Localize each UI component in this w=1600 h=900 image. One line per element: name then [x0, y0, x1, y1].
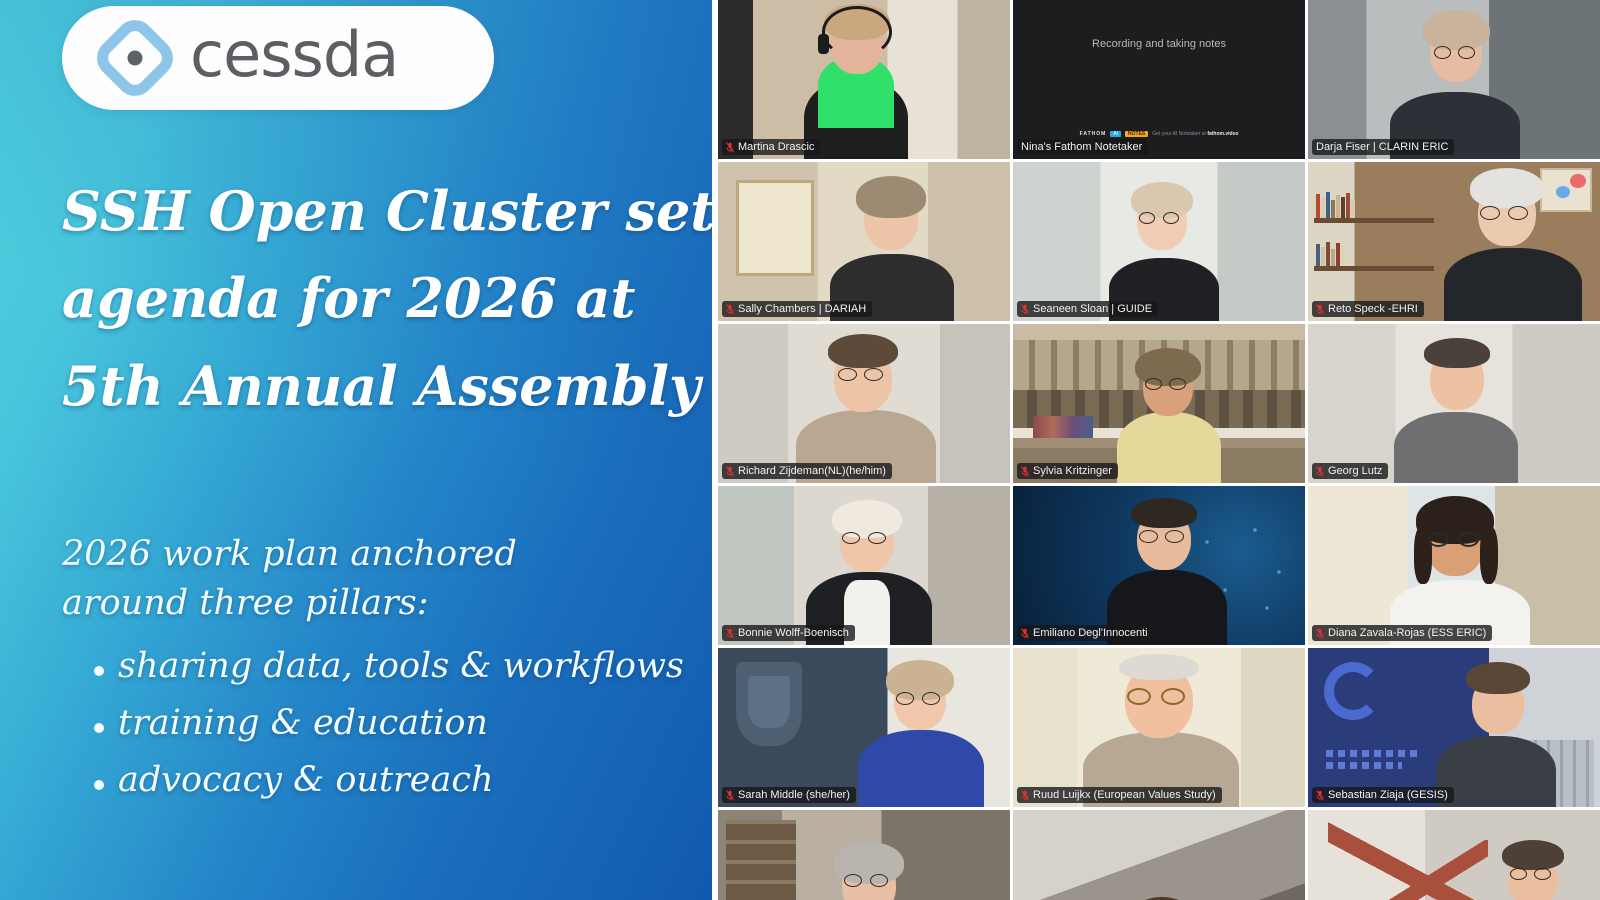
summary-lead-line: 2026 work plan anchored: [62, 530, 710, 579]
mic-muted-icon: [726, 466, 734, 477]
participant-name: Georg Lutz: [1328, 466, 1382, 477]
glasses-icon: [1480, 206, 1500, 220]
status-badge: Martina Drascic: [722, 139, 820, 155]
video-feed: [1308, 486, 1600, 645]
headline-line: 5th Annual Assembly: [62, 343, 710, 430]
participant-tile[interactable]: Sylvia Kritzinger: [1013, 324, 1305, 483]
status-badge: Sebastian Ziaja (GESIS): [1312, 787, 1454, 803]
glasses-icon: [1165, 530, 1184, 543]
glasses-icon: [1163, 212, 1179, 224]
video-feed: [718, 648, 1010, 807]
glasses-icon: [896, 692, 914, 705]
glasses-icon: [1161, 688, 1185, 705]
page-title: SSH Open Cluster sets agenda for 2026 at…: [62, 168, 710, 430]
summary-lead: 2026 work plan anchored around three pil…: [62, 530, 710, 628]
video-feed: [1308, 0, 1600, 159]
fathom-promo: FATHOM AI NOTES Get your AI Notetaker at…: [1013, 131, 1305, 137]
status-badge: Darja Fiser | CLARIN ERIC: [1312, 139, 1454, 155]
status-badge: Nina's Fathom Notetaker: [1017, 139, 1148, 155]
participant-name: Sylvia Kritzinger: [1033, 466, 1112, 477]
video-feed: [1013, 648, 1305, 807]
pillar-list: sharing data, tools & workflows training…: [62, 642, 710, 805]
promo-tail: Get your AI Notetaker at fathom.video: [1152, 131, 1238, 137]
video-feed: [718, 810, 1010, 900]
participant-tile[interactable]: Ruud Luijkx (European Values Study): [1013, 648, 1305, 807]
glasses-icon: [1434, 46, 1451, 59]
video-grid: Martina Drascic Recording and taking not…: [718, 0, 1600, 900]
glasses-icon: [922, 692, 940, 705]
participant-tile[interactable]: Diana Zavala-Rojas (ESS ERIC): [1308, 486, 1600, 645]
glasses-icon: [1510, 868, 1527, 880]
pillar-label: sharing data, tools & workflows: [118, 646, 684, 686]
participant-name: Sebastian Ziaja (GESIS): [1328, 790, 1448, 801]
participant-tile[interactable]: Richard Zijdeman(NL)(he/him): [718, 324, 1010, 483]
slide-stage: cessda SSH Open Cluster sets agenda for …: [0, 0, 1600, 900]
glasses-icon: [1139, 530, 1158, 543]
mic-muted-icon: [1021, 304, 1029, 315]
glasses-icon: [1428, 532, 1449, 547]
promo-tail-text: Get your AI Notetaker at: [1152, 131, 1207, 137]
mic-muted-icon: [1316, 466, 1324, 477]
promo-link[interactable]: fathom.video: [1207, 131, 1238, 137]
glasses-icon: [1534, 868, 1551, 880]
status-badge: Sally Chambers | DARIAH: [722, 301, 872, 317]
glasses-icon: [842, 532, 860, 544]
mic-muted-icon: [1316, 628, 1324, 639]
bullet-dot-icon: [94, 666, 104, 676]
notetaker-tile[interactable]: Recording and taking notes FATHOM AI NOT…: [1013, 0, 1305, 159]
bullet-dot-icon: [94, 780, 104, 790]
promo-chip-notes: NOTES: [1125, 131, 1148, 137]
participant-tile[interactable]: Sally Chambers | DARIAH: [718, 162, 1010, 321]
glasses-icon: [1508, 206, 1528, 220]
summary-lead-line: around three pillars:: [62, 579, 710, 628]
bullet-dot-icon: [94, 723, 104, 733]
glasses-icon: [844, 874, 862, 887]
glasses-icon: [1169, 378, 1186, 390]
participant-name: Ruud Luijkx (European Values Study): [1033, 790, 1216, 801]
logo-wordmark: cessda: [190, 24, 398, 86]
participant-tile[interactable]: Bonnie Wolff-Boenisch: [718, 486, 1010, 645]
participant-tile[interactable]: Martina Drascic: [718, 0, 1010, 159]
status-badge: Bonnie Wolff-Boenisch: [722, 625, 855, 641]
participant-name: Reto Speck -EHRI: [1328, 304, 1418, 315]
cessda-logo: cessda: [62, 6, 494, 110]
notetaker-status: Recording and taking notes: [1013, 38, 1305, 50]
video-feed: [1308, 324, 1600, 483]
status-badge: Georg Lutz: [1312, 463, 1388, 479]
list-item: training & education: [62, 699, 710, 748]
video-feed: [1308, 810, 1600, 900]
glasses-icon: [1458, 532, 1479, 547]
mic-muted-icon: [726, 142, 734, 153]
video-feed: [1308, 648, 1600, 807]
participant-name: Nina's Fathom Notetaker: [1021, 142, 1142, 153]
participant-name: Emiliano Degl'Innocenti: [1033, 628, 1148, 639]
status-badge: Sarah Middle (she/her): [722, 787, 856, 803]
participant-name: Diana Zavala-Rojas (ESS ERIC): [1328, 628, 1486, 639]
participant-tile[interactable]: Emiliano Degl'Innocenti: [1013, 486, 1305, 645]
fathom-brand-label: FATHOM: [1080, 131, 1107, 137]
glasses-icon: [1139, 212, 1155, 224]
video-feed: [1013, 810, 1305, 900]
participant-tile[interactable]: Georg Lutz: [1308, 324, 1600, 483]
participant-tile[interactable]: Reto Speck -EHRI: [1308, 162, 1600, 321]
video-grid-row: [718, 810, 1600, 900]
status-badge: Ruud Luijkx (European Values Study): [1017, 787, 1222, 803]
video-grid-row: Richard Zijdeman(NL)(he/him): [718, 324, 1600, 483]
video-feed: [1013, 486, 1305, 645]
glasses-icon: [864, 368, 883, 381]
video-grid-row: Bonnie Wolff-Boenisch: [718, 486, 1600, 645]
participant-tile[interactable]: [1013, 810, 1305, 900]
headline-line: SSH Open Cluster sets: [62, 168, 710, 255]
status-badge: Reto Speck -EHRI: [1312, 301, 1424, 317]
promo-chip-ai: AI: [1110, 131, 1121, 137]
status-badge: Richard Zijdeman(NL)(he/him): [722, 463, 892, 479]
participant-name: Sally Chambers | DARIAH: [738, 304, 866, 315]
pillar-label: advocacy & outreach: [118, 760, 494, 800]
participant-name: Seaneen Sloan | GUIDE: [1033, 304, 1152, 315]
glasses-icon: [1127, 688, 1151, 705]
participant-name: Darja Fiser | CLARIN ERIC: [1316, 142, 1448, 153]
list-item: advocacy & outreach: [62, 756, 710, 805]
participant-tile[interactable]: Seaneen Sloan | GUIDE: [1013, 162, 1305, 321]
video-feed: [718, 486, 1010, 645]
status-badge: Seaneen Sloan | GUIDE: [1017, 301, 1158, 317]
participant-tile[interactable]: Darja Fiser | CLARIN ERIC: [1308, 0, 1600, 159]
pillar-label: training & education: [118, 703, 488, 743]
whiteboard: [736, 180, 814, 276]
mic-muted-icon: [726, 304, 734, 315]
video-feed: [1013, 324, 1305, 483]
status-badge: Sylvia Kritzinger: [1017, 463, 1118, 479]
video-grid-row: Sarah Middle (she/her): [718, 648, 1600, 807]
video-feed: [1013, 162, 1305, 321]
participant-tile[interactable]: Sebastian Ziaja (GESIS): [1308, 648, 1600, 807]
mic-muted-icon: [1316, 790, 1324, 801]
participant-name: Richard Zijdeman(NL)(he/him): [738, 466, 886, 477]
status-badge: Diana Zavala-Rojas (ESS ERIC): [1312, 625, 1492, 641]
summary-block: 2026 work plan anchored around three pil…: [62, 530, 710, 813]
participant-tile[interactable]: Sarah Middle (she/her): [718, 648, 1010, 807]
video-feed: [718, 0, 1010, 159]
mic-muted-icon: [1021, 790, 1029, 801]
participant-name: Martina Drascic: [738, 142, 814, 153]
video-feed: [1308, 162, 1600, 321]
glasses-icon: [868, 532, 886, 544]
mic-muted-icon: [726, 790, 734, 801]
promo-panel: cessda SSH Open Cluster sets agenda for …: [0, 0, 712, 900]
gesis-logo-icon: [1324, 662, 1382, 720]
glasses-icon: [1145, 378, 1162, 390]
mic-muted-icon: [1316, 304, 1324, 315]
mic-muted-icon: [1021, 628, 1029, 639]
glasses-icon: [870, 874, 888, 887]
video-grid-row: Martina Drascic Recording and taking not…: [718, 0, 1600, 159]
participant-tile[interactable]: [718, 810, 1010, 900]
diamond-logo-icon: [96, 19, 174, 97]
video-grid-row: Sally Chambers | DARIAH: [718, 162, 1600, 321]
glasses-icon: [1458, 46, 1475, 59]
mic-muted-icon: [1021, 466, 1029, 477]
headline-line: agenda for 2026 at: [62, 255, 710, 342]
status-badge: Emiliano Degl'Innocenti: [1017, 625, 1154, 641]
glasses-icon: [838, 368, 857, 381]
participant-name: Sarah Middle (she/her): [738, 790, 850, 801]
participant-name: Bonnie Wolff-Boenisch: [738, 628, 849, 639]
video-feed: [718, 162, 1010, 321]
video-feed: [718, 324, 1010, 483]
mic-muted-icon: [726, 628, 734, 639]
list-item: sharing data, tools & workflows: [62, 642, 710, 691]
participant-tile[interactable]: [1308, 810, 1600, 900]
